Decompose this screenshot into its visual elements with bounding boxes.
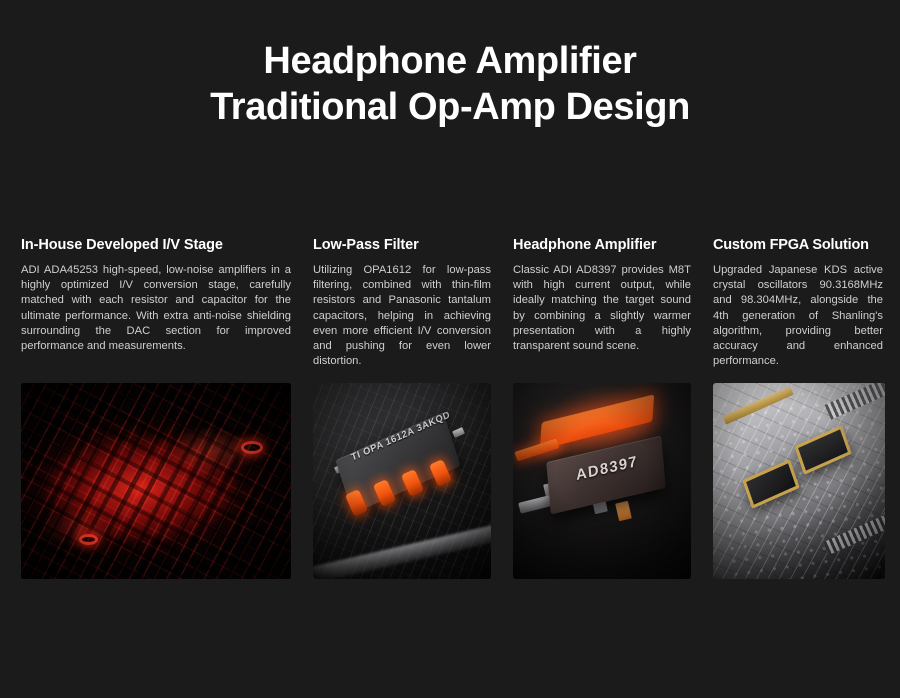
product-feature-page: Headphone Amplifier Traditional Op-Amp D… <box>0 0 900 698</box>
red-lit-pcb-photo <box>21 383 291 579</box>
spacer <box>21 354 291 368</box>
feature-heading: Low-Pass Filter <box>313 236 491 254</box>
page-title-line-1: Headphone Amplifier <box>0 38 900 84</box>
feature-body: ADI ADA45253 high-speed, low-noise ampli… <box>21 263 291 354</box>
spacer <box>713 369 883 383</box>
feature-heading: Custom FPGA Solution <box>713 236 883 254</box>
feature-column-iv-stage: In-House Developed I/V Stage ADI ADA4525… <box>21 236 291 579</box>
spacer <box>313 369 491 383</box>
feature-body: Classic ADI AD8397 provides M8T with hig… <box>513 263 691 354</box>
ad8397-chip-photo: AD8397 <box>513 383 691 579</box>
fpga-crystal-oscillator-photo <box>713 383 885 579</box>
feature-columns: In-House Developed I/V Stage ADI ADA4525… <box>21 236 879 579</box>
spacer <box>513 354 691 368</box>
feature-body: Upgraded Japanese KDS active crystal osc… <box>713 263 883 369</box>
feature-heading: Headphone Amplifier <box>513 236 691 254</box>
feature-heading: In-House Developed I/V Stage <box>21 236 291 254</box>
feature-column-low-pass-filter: Low-Pass Filter Utilizing OPA1612 for lo… <box>313 236 491 579</box>
page-title: Headphone Amplifier Traditional Op-Amp D… <box>0 38 900 130</box>
feature-column-headphone-amplifier: Headphone Amplifier Classic ADI AD8397 p… <box>513 236 691 579</box>
page-title-line-2: Traditional Op-Amp Design <box>0 84 900 130</box>
feature-body: Utilizing OPA1612 for low-pass filtering… <box>313 263 491 369</box>
opa1612-chip-photo: TI OPA 1612A 3AKQD <box>313 383 491 579</box>
feature-column-custom-fpga: Custom FPGA Solution Upgraded Japanese K… <box>713 236 883 579</box>
